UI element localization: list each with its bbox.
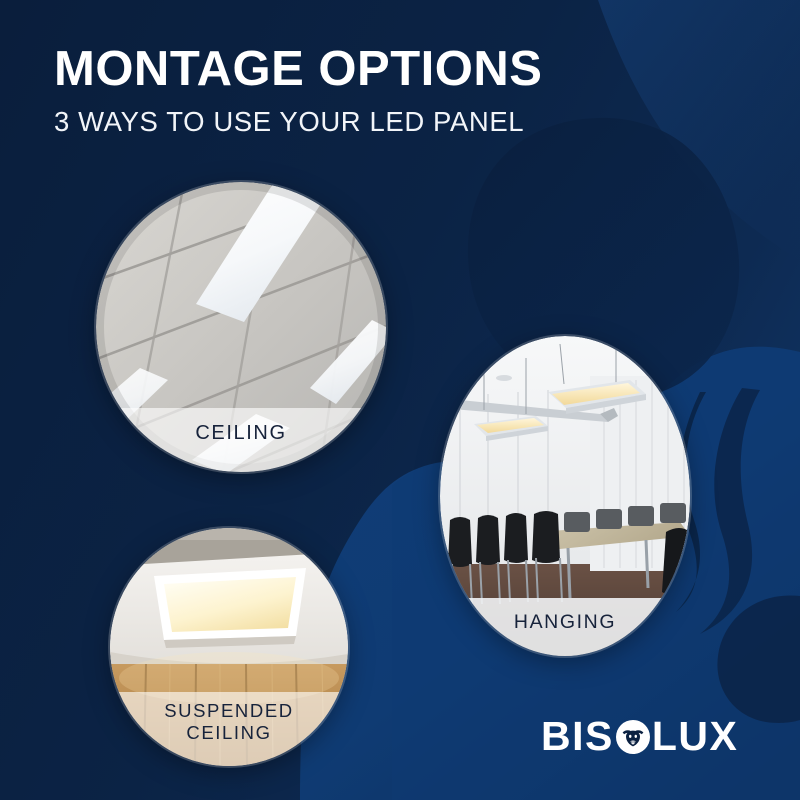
header-block: MONTAGE OPTIONS 3 WAYS TO USE YOUR LED P…: [54, 44, 694, 138]
poster-canvas: MONTAGE OPTIONS 3 WAYS TO USE YOUR LED P…: [0, 0, 800, 800]
brand-name-before: BIS: [541, 716, 614, 757]
page-title: MONTAGE OPTIONS: [54, 44, 694, 95]
module-hanging[interactable]: HANGING: [440, 336, 690, 656]
brand-logo[interactable]: BIS LUX: [541, 713, 738, 759]
module-ceiling[interactable]: CEILING: [96, 182, 386, 472]
bull-head-icon: [616, 720, 650, 754]
ceiling-photo: [96, 182, 386, 472]
page-subtitle: 3 WAYS TO USE YOUR LED PANEL: [54, 106, 694, 138]
module-suspended-ceiling[interactable]: SUSPENDED CEILING: [110, 528, 348, 766]
brand-wordmark: BIS LUX: [541, 716, 738, 757]
suspended-ceiling-photo: [110, 528, 348, 766]
brand-name-after: LUX: [652, 716, 739, 757]
hanging-photo: [440, 336, 690, 656]
